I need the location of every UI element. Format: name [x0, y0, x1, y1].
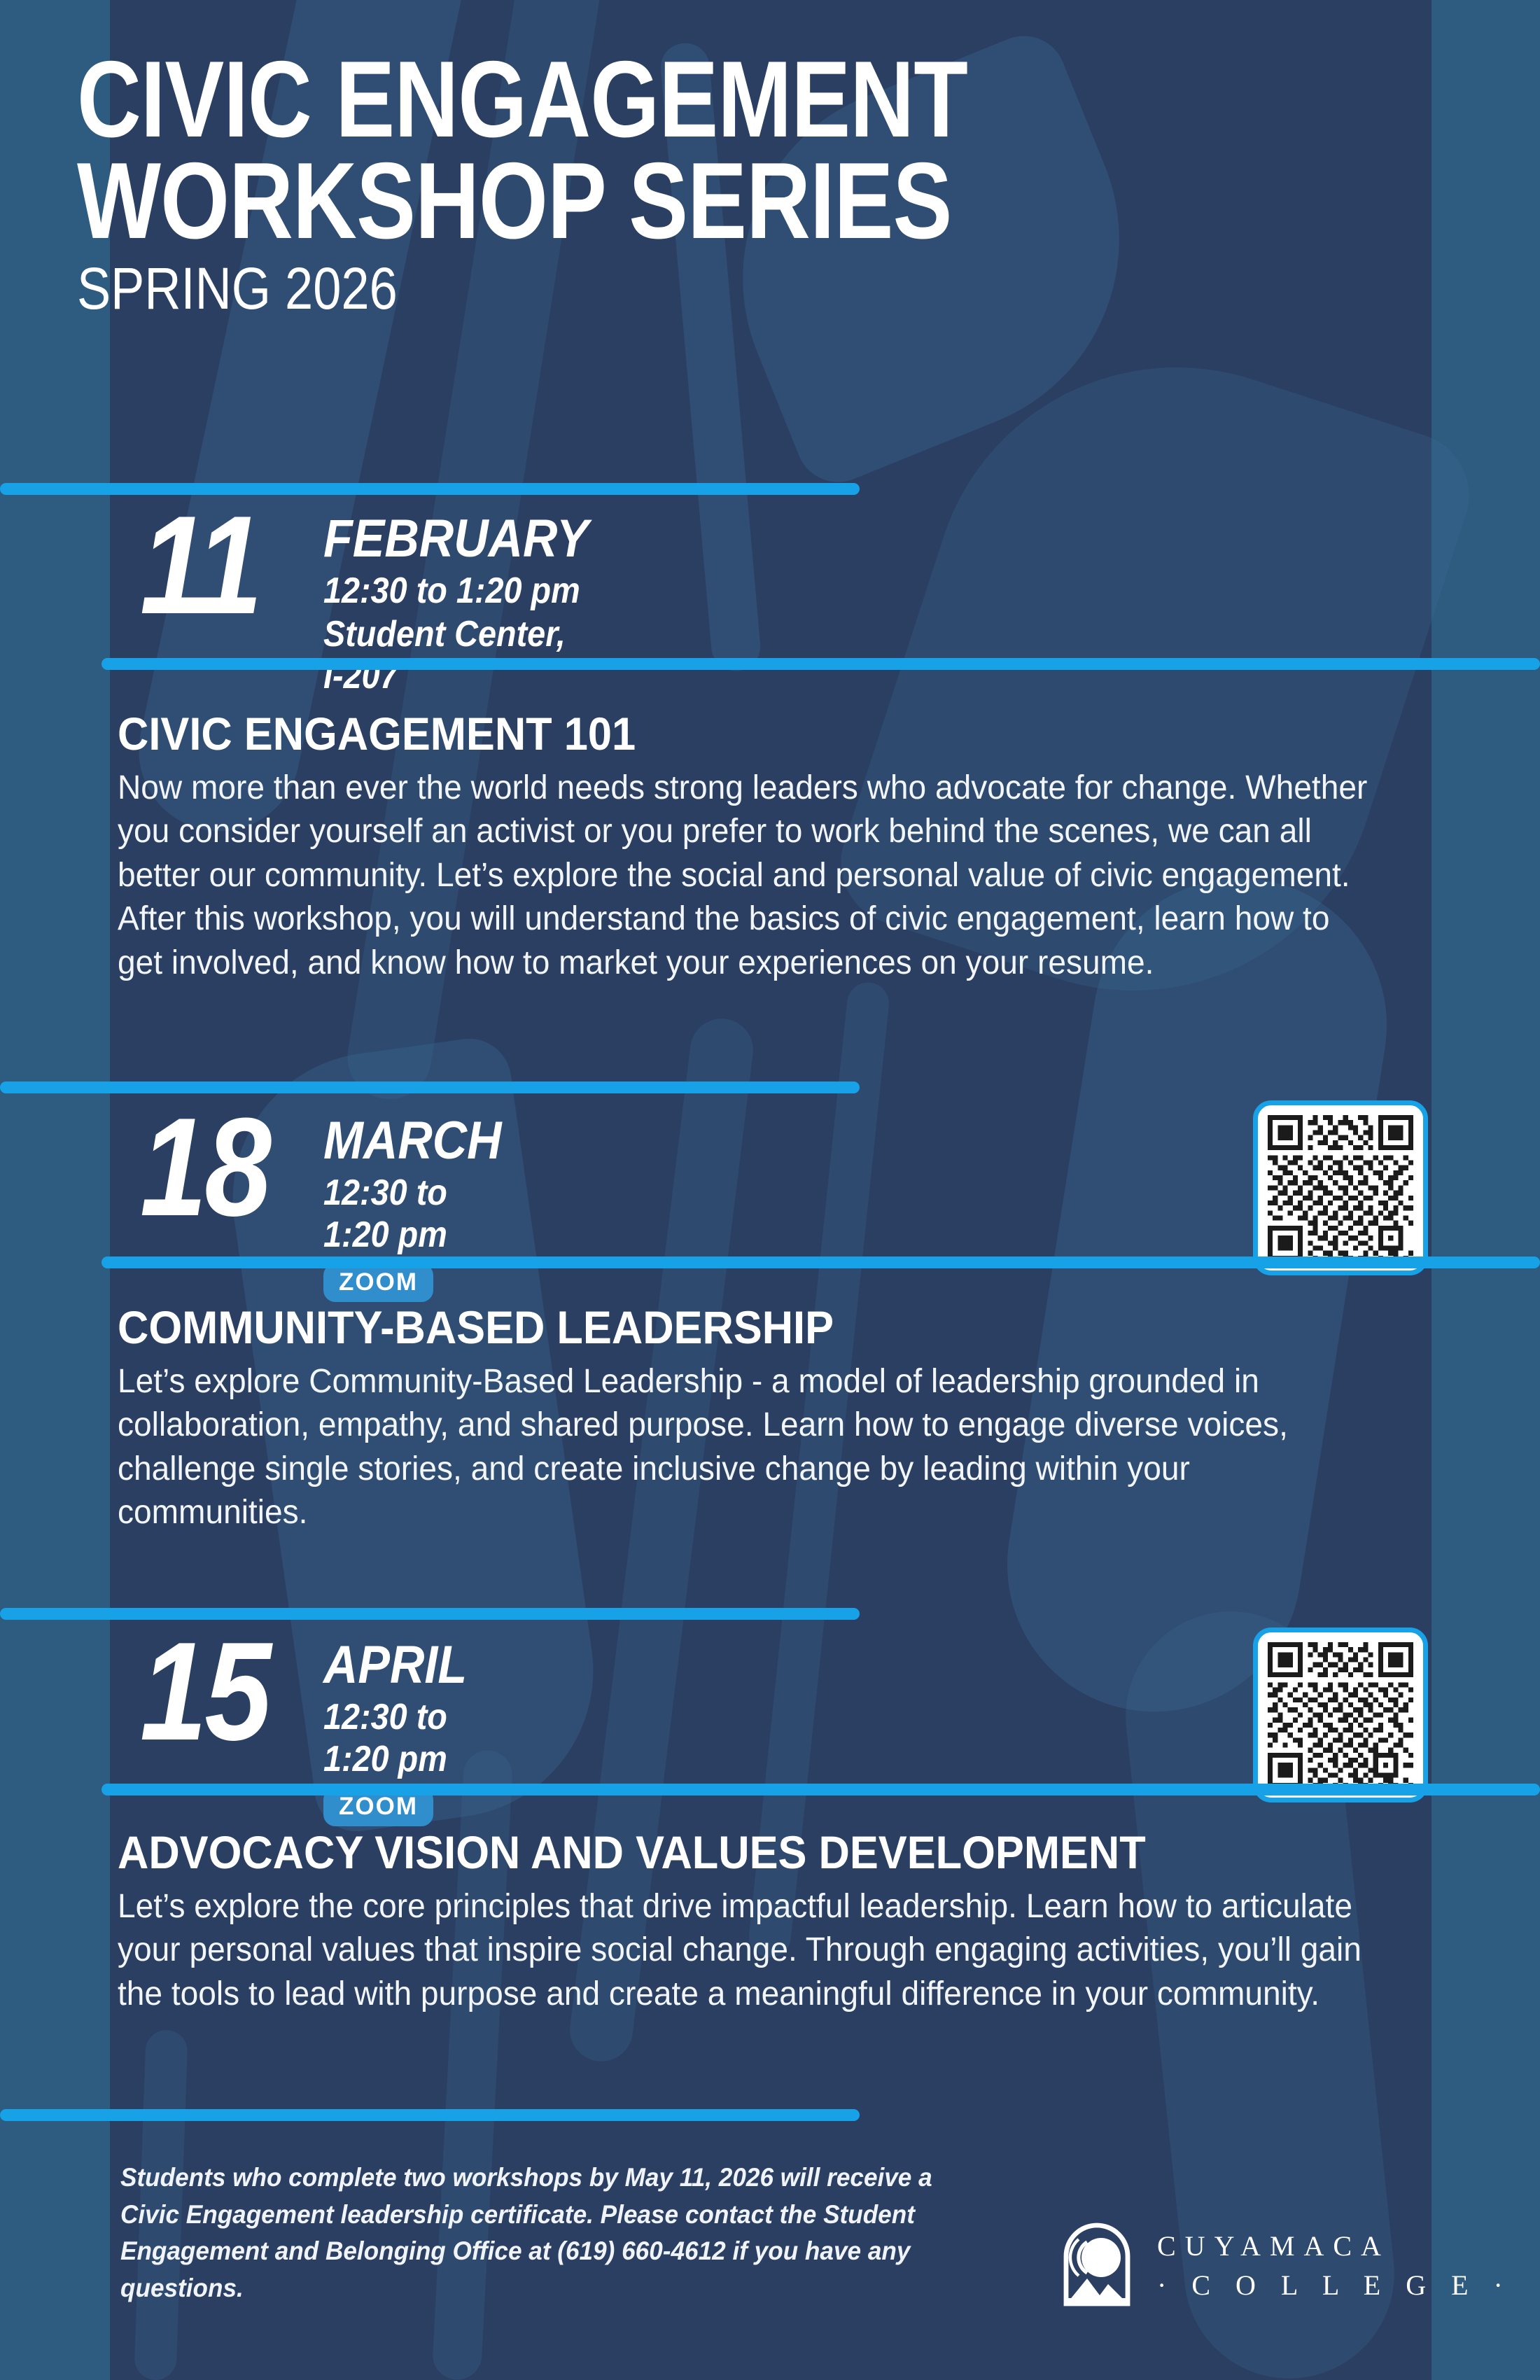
divider-session-2-bottom — [101, 1256, 1540, 1268]
footer-note: Students who complete two workshops by M… — [120, 2159, 958, 2306]
qr-code-session-3[interactable] — [1253, 1627, 1428, 1802]
poster-root: CIVIC ENGAGEMENT WORKSHOP SERIES SPRING … — [0, 0, 1540, 2380]
session-3-info: APRIL 12:30 to 1:20 pm ZOOM — [323, 1639, 483, 1826]
page-subtitle: SPRING 2026 — [77, 259, 1281, 318]
page-title-line-2: WORKSHOP SERIES — [77, 154, 1225, 247]
session-1-day: 11 — [140, 503, 260, 629]
session-1-month: FEBRUARY — [323, 512, 589, 566]
poster-content: CIVIC ENGAGEMENT WORKSHOP SERIES SPRING … — [0, 0, 1540, 2380]
logo-wordmark: CUYAMACA · C O L L E G E · — [1157, 2232, 1512, 2299]
session-2-time: 12:30 to 1:20 pm — [323, 1172, 502, 1256]
workshop-1: CIVIC ENGAGEMENT 101 Now more than ever … — [118, 710, 1371, 985]
divider-session-3-top — [0, 1608, 860, 1620]
session-2-info: MARCH 12:30 to 1:20 pm ZOOM — [323, 1114, 521, 1302]
poster-header: CIVIC ENGAGEMENT WORKSHOP SERIES SPRING … — [77, 52, 1477, 318]
cuyamaca-college-logo: CUYAMACA · C O L L E G E · — [1060, 2222, 1512, 2309]
session-1-time: 12:30 to 1:20 pm — [323, 570, 589, 612]
divider-session-1-top — [0, 483, 860, 495]
workshop-3-body: Let’s explore the core principles that d… — [118, 1885, 1368, 2016]
workshop-2-title: COMMUNITY-BASED LEADERSHIP — [118, 1304, 1283, 1350]
divider-session-3-bottom — [101, 1784, 1540, 1795]
page-title-line-1: CIVIC ENGAGEMENT — [77, 52, 1225, 146]
divider-session-1-bottom — [101, 658, 1540, 670]
workshop-1-title: CIVIC ENGAGEMENT 101 — [118, 710, 1283, 757]
workshop-3: ADVOCACY VISION AND VALUES DEVELOPMENT L… — [118, 1829, 1371, 2016]
session-3-time: 12:30 to 1:20 pm — [323, 1697, 467, 1781]
session-2-day: 18 — [140, 1105, 269, 1231]
workshop-2-body: Let’s explore Community-Based Leadership… — [118, 1360, 1368, 1535]
session-2-zoom-badge: ZOOM — [323, 1263, 433, 1302]
workshop-2: COMMUNITY-BASED LEADERSHIP Let’s explore… — [118, 1304, 1371, 1535]
session-2-month: MARCH — [323, 1114, 502, 1168]
divider-footer — [0, 2109, 860, 2121]
qr-code-glyph — [1268, 1115, 1413, 1261]
session-3-day: 15 — [140, 1629, 269, 1755]
logo-line-2: · C O L L E G E · — [1157, 2271, 1512, 2299]
session-3-month: APRIL — [323, 1639, 467, 1692]
session-1-location: Student Center, I-207 — [323, 614, 589, 698]
workshop-3-title: ADVOCACY VISION AND VALUES DEVELOPMENT — [118, 1829, 1283, 1875]
qr-code-glyph — [1268, 1642, 1413, 1788]
logo-line-1: CUYAMACA — [1157, 2232, 1512, 2260]
qr-code-session-2[interactable] — [1253, 1100, 1428, 1275]
divider-session-2-top — [0, 1081, 860, 1093]
arch-mountain-moon-icon — [1060, 2222, 1133, 2309]
workshop-1-body: Now more than ever the world needs stron… — [118, 766, 1368, 985]
